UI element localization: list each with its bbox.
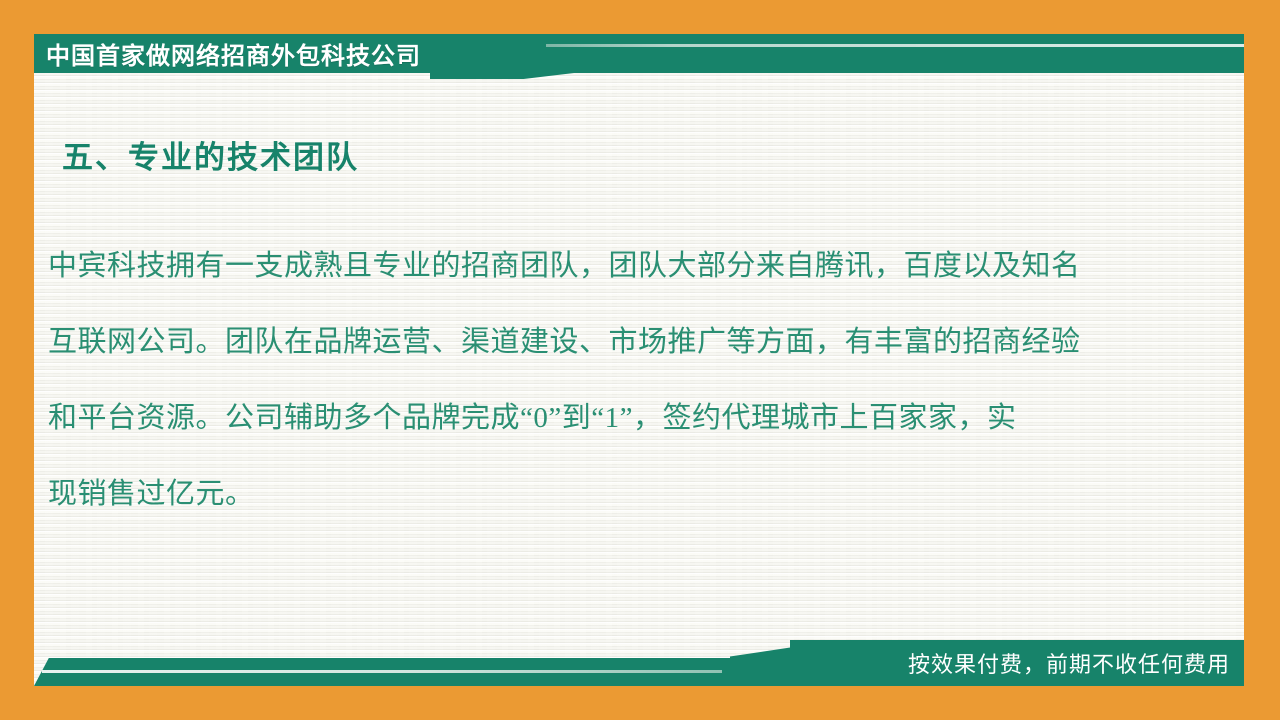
slide-root: 中国首家做网络招商外包科技公司 五、专业的技术团队 中宾科技拥有一支成熟且专业的…: [0, 0, 1280, 720]
footer-accent-line: [42, 670, 722, 673]
header-banner-title: 中国首家做网络招商外包科技公司: [46, 34, 421, 73]
body-line-2: 互联网公司。团队在品牌运营、渠道建设、市场推广等方面，有丰富的招商经验: [48, 304, 1188, 380]
body-line-3: 和平台资源。公司辅助多个品牌完成“0”到“1”，签约代理城市上百家家，实: [48, 380, 1188, 456]
footer-tagline: 按效果付费，前期不收任何费用: [790, 640, 1230, 686]
body-line-4: 现销售过亿元。: [48, 456, 1188, 532]
body-line-1: 中宾科技拥有一支成熟且专业的招商团队，团队大部分来自腾讯，百度以及知名: [48, 228, 1188, 304]
section-heading: 五、专业的技术团队: [62, 132, 359, 177]
header-accent-line: [546, 44, 1244, 47]
body-paragraph: 中宾科技拥有一支成熟且专业的招商团队，团队大部分来自腾讯，百度以及知名 互联网公…: [48, 228, 1188, 532]
